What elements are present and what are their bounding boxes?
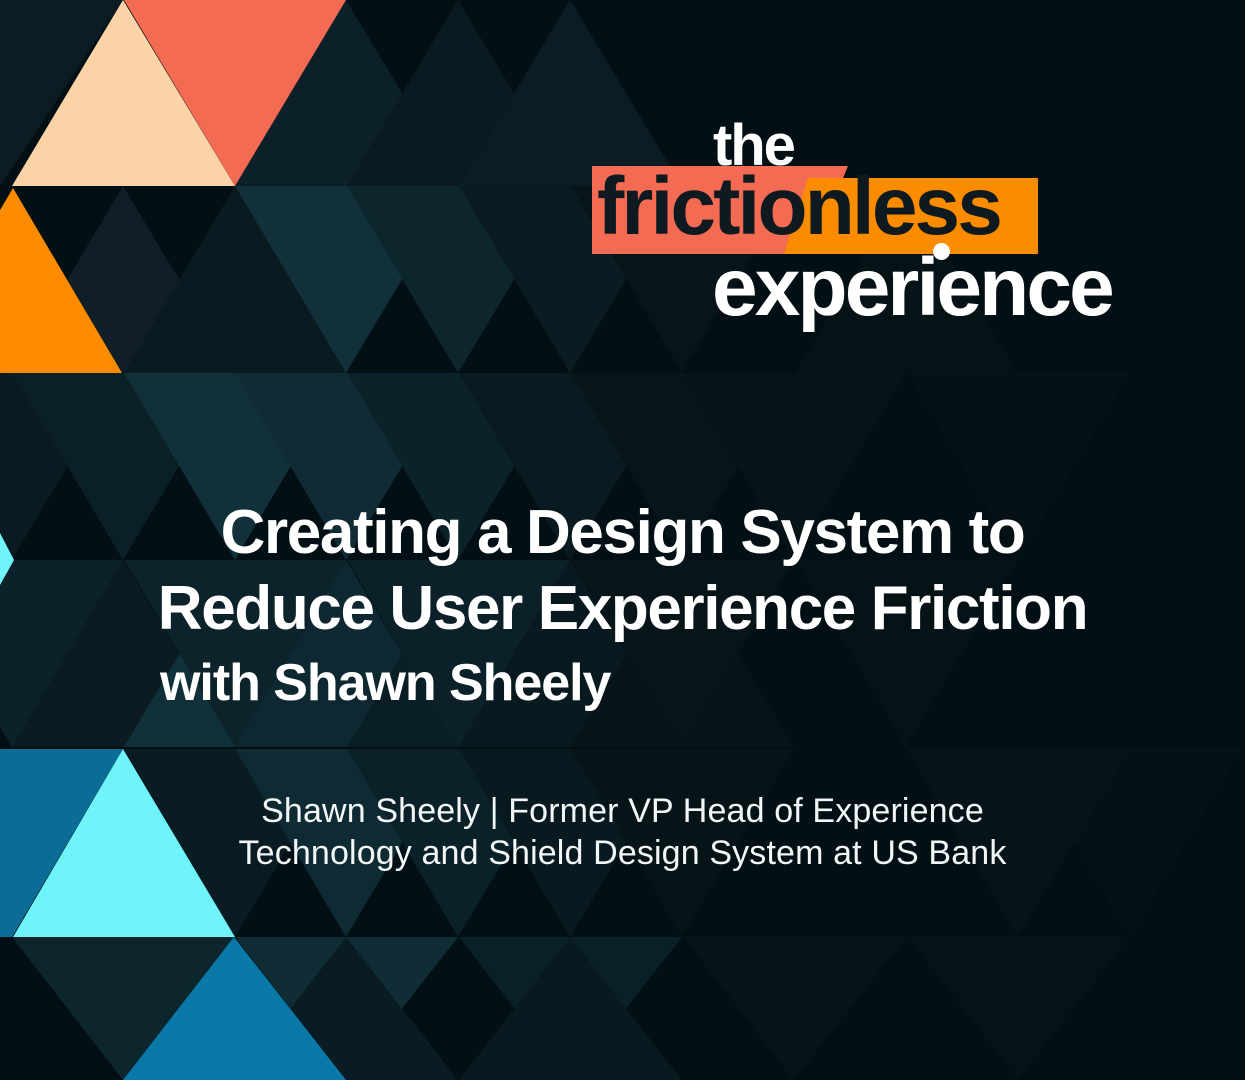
logo-i-dot [933, 243, 950, 260]
presentation-slide: the frictionless experience Creating a D… [0, 0, 1245, 1080]
slide-title-block: Creating a Design System to Reduce User … [0, 495, 1245, 719]
page-title-line-2: Reduce User Experience Friction [0, 571, 1245, 647]
speaker-credentials-line-1: Shawn Sheely | Former VP Head of Experie… [0, 790, 1245, 832]
logo-word-experience: experience [712, 247, 1112, 329]
frictionless-experience-logo: the frictionless experience [590, 108, 1130, 328]
speaker-credentials: Shawn Sheely | Former VP Head of Experie… [0, 790, 1245, 874]
page-title-line-1: Creating a Design System to [0, 495, 1245, 571]
speaker-credentials-line-2: Technology and Shield Design System at U… [0, 832, 1245, 874]
logo-word-frictionless: frictionless [597, 166, 1000, 248]
page-subtitle-speaker: with Shawn Sheely [160, 647, 1245, 719]
